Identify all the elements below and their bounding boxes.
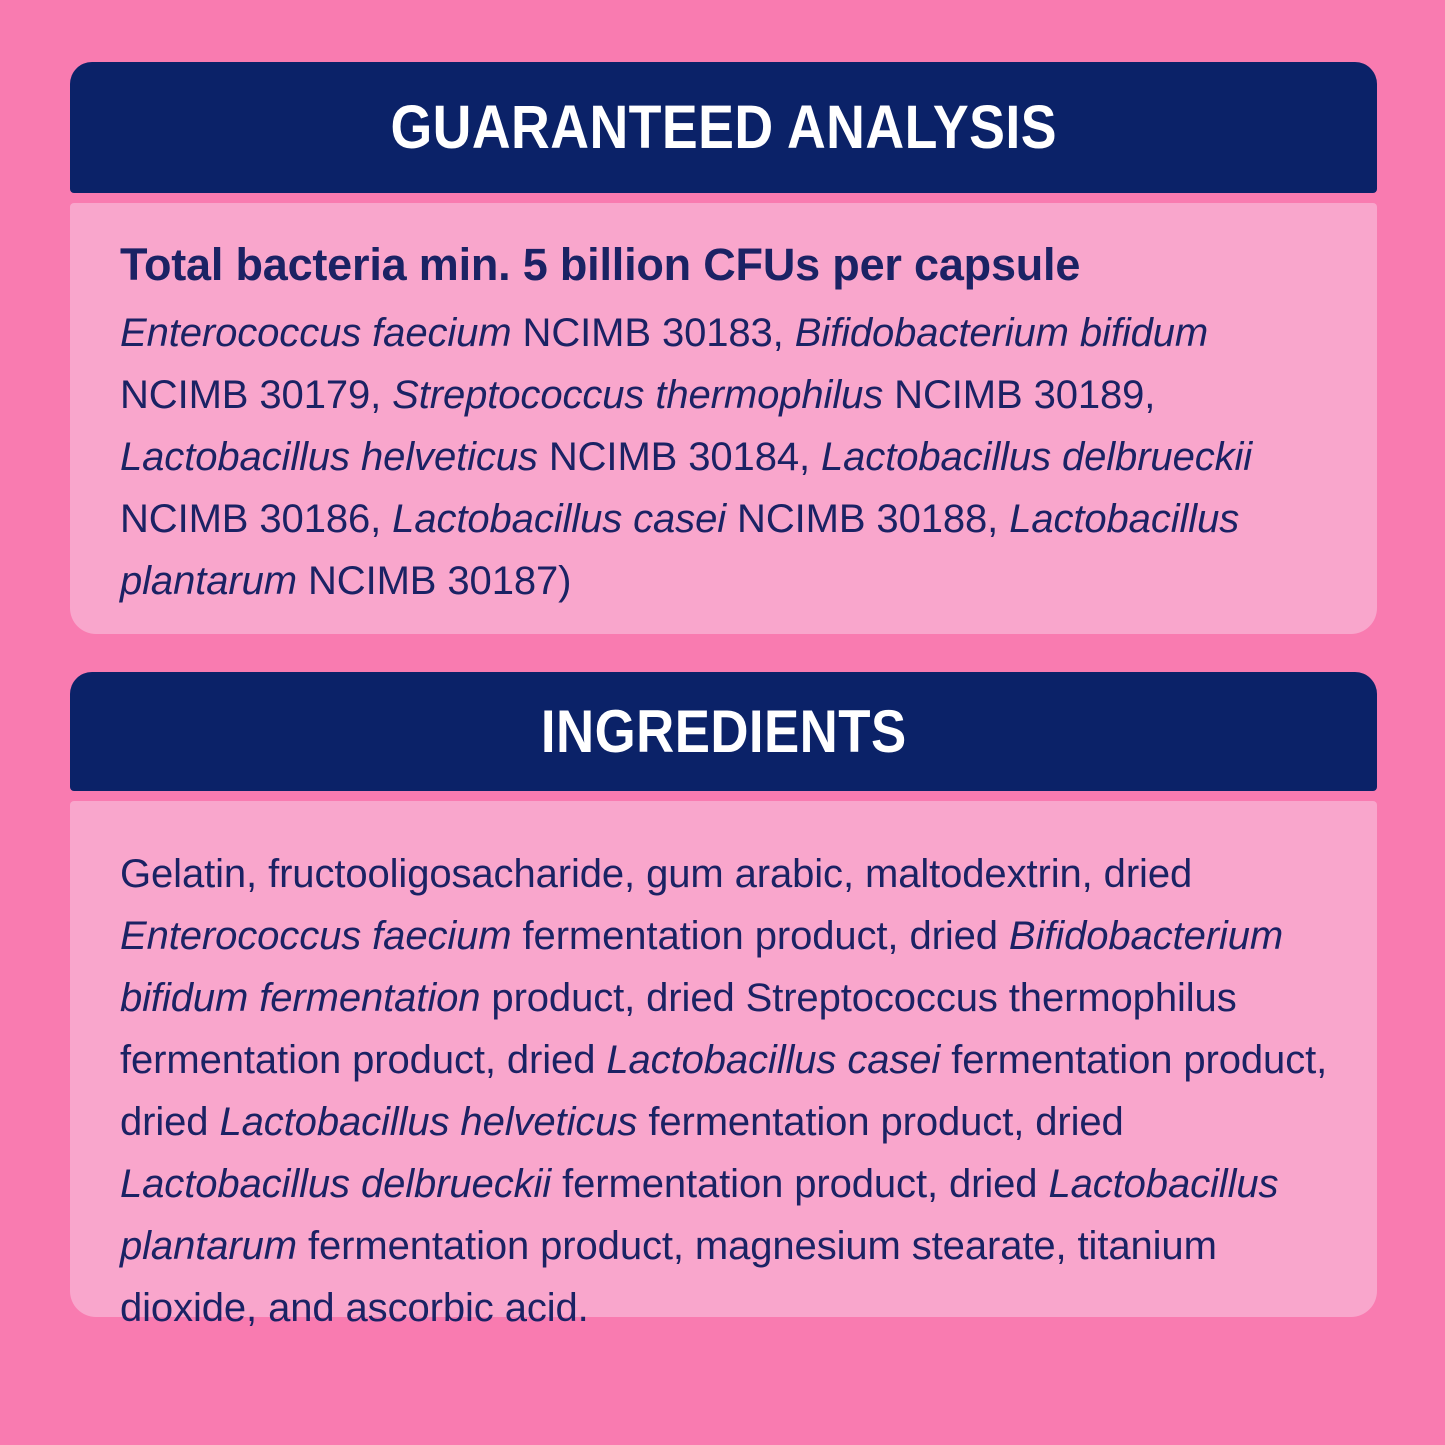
- guaranteed-analysis-body: Total bacteria min. 5 billion CFUs per c…: [70, 203, 1377, 634]
- guaranteed-analysis-strain-list: Enterococcus faecium NCIMB 30183, Bifido…: [120, 302, 1331, 612]
- ingredients-body: Gelatin, fructooligosacharide, gum arabi…: [70, 801, 1377, 1317]
- guaranteed-analysis-header: GUARANTEED ANALYSIS: [70, 62, 1377, 193]
- guaranteed-analysis-title: GUARANTEED ANALYSIS: [390, 97, 1057, 158]
- ingredients-card: INGREDIENTS Gelatin, fructooligosacharid…: [70, 672, 1377, 1317]
- ingredients-header: INGREDIENTS: [70, 672, 1377, 791]
- supplement-label-panel: GUARANTEED ANALYSIS Total bacteria min. …: [0, 0, 1445, 1445]
- ingredients-list-text: Gelatin, fructooligosacharide, gum arabi…: [120, 843, 1337, 1339]
- total-bacteria-heading: Total bacteria min. 5 billion CFUs per c…: [120, 241, 1331, 288]
- ingredients-title: INGREDIENTS: [541, 702, 907, 762]
- guaranteed-analysis-card: GUARANTEED ANALYSIS Total bacteria min. …: [70, 62, 1377, 634]
